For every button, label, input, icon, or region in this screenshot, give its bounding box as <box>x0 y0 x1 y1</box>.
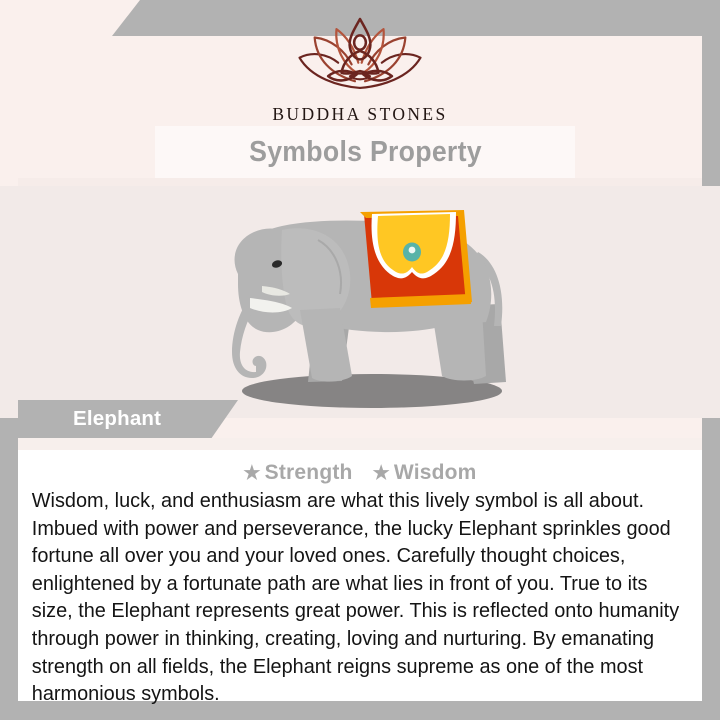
elephant-hind-leg <box>432 310 486 381</box>
keyword-label: Strength <box>265 461 353 484</box>
keyword-item-strength: ★Strength <box>243 461 352 485</box>
page-title: Symbols Property <box>249 136 482 169</box>
keyword-list: ★Strength ★Wisdom <box>18 450 702 485</box>
symbol-infographic-card: BUDDHA STONES Symbols Property <box>0 0 720 720</box>
symbol-name-ribbon: Elephant <box>18 400 238 438</box>
brand-name: BUDDHA STONES <box>0 104 720 125</box>
brand-header: BUDDHA STONES <box>0 14 720 125</box>
symbol-name-label: Elephant <box>73 400 161 438</box>
star-icon: ★ <box>243 462 260 485</box>
title-banner: Symbols Property <box>155 126 575 178</box>
lotus-meditation-figure-icon <box>276 14 444 98</box>
description-panel: ★Strength ★Wisdom Wisdom, luck, and enth… <box>18 450 702 701</box>
saddle-jewel-highlight <box>409 247 416 254</box>
keyword-label: Wisdom <box>394 461 477 484</box>
symbol-illustration <box>0 186 720 418</box>
keyword-item-wisdom: ★Wisdom <box>373 461 477 485</box>
frame-title-underline <box>18 178 702 186</box>
symbol-description: Wisdom, luck, and enthusiasm are what th… <box>18 488 692 709</box>
star-icon: ★ <box>373 462 390 485</box>
walking-elephant-with-saddle-illustration <box>0 186 720 418</box>
frame-panel-gap <box>18 438 702 450</box>
